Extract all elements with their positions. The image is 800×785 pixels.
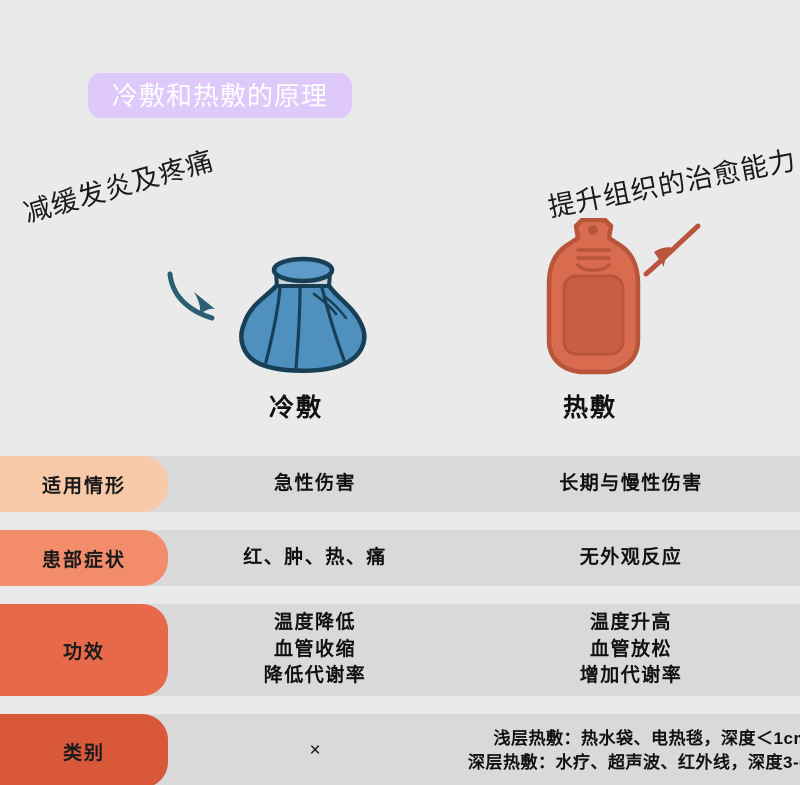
column-header-hot: 热敷 bbox=[492, 388, 688, 424]
cell-hot: 温度升高 血管放松 增加代谢率 bbox=[462, 604, 800, 696]
cell-hot: 长期与慢性伤害 bbox=[462, 456, 800, 512]
hot-water-bottle-icon bbox=[526, 218, 661, 378]
ice-bag-icon bbox=[216, 240, 386, 380]
row-label-text: 患部症状 bbox=[42, 545, 126, 572]
row-label-pill: 患部症状 bbox=[0, 530, 168, 586]
row-label-text: 类别 bbox=[63, 738, 105, 765]
row-label-pill: 适用情形 bbox=[0, 456, 168, 512]
table-row: 类别 × 浅层热敷：热水袋、电热毯，深度＜1cm 深层热敷：水疗、超声波、红外线… bbox=[0, 714, 800, 785]
table-row: 患部症状 红、肿、热、痛 无外观反应 bbox=[0, 530, 800, 586]
page-title: 冷敷和热敷的原理 bbox=[112, 83, 328, 109]
cell-cold: × bbox=[168, 714, 462, 785]
cell-hot: 浅层热敷：热水袋、电热毯，深度＜1cm 深层热敷：水疗、超声波、红外线，深度3-… bbox=[462, 714, 800, 785]
row-gap bbox=[0, 512, 800, 530]
annotation-hot-benefit: 提升组织的治愈能力 bbox=[544, 138, 799, 224]
cell-line: 浅层热敷：热水袋、电热毯，深度＜1cm bbox=[494, 727, 800, 751]
cell-line: 急性伤害 bbox=[274, 471, 356, 498]
cell-line: 长期与慢性伤害 bbox=[559, 471, 703, 498]
row-gap bbox=[0, 586, 800, 604]
column-header-cold: 冷敷 bbox=[198, 388, 394, 424]
cell-line: 降低代谢率 bbox=[264, 663, 367, 690]
cell-cold: 温度降低 血管收缩 降低代谢率 bbox=[168, 604, 462, 696]
row-gap bbox=[0, 696, 800, 714]
cell-line: × bbox=[309, 740, 320, 762]
annotation-cold-benefit: 减缓发炎及疼痛 bbox=[19, 139, 218, 231]
row-label-pill: 类别 bbox=[0, 714, 168, 785]
table-row: 适用情形 急性伤害 长期与慢性伤害 bbox=[0, 456, 800, 512]
cell-line: 无外观反应 bbox=[580, 545, 683, 572]
cell-line: 血管收缩 bbox=[274, 637, 356, 664]
cell-line: 血管放松 bbox=[590, 637, 672, 664]
comparison-table: 适用情形 急性伤害 长期与慢性伤害 患部症状 红、肿、热、痛 无外观反应 bbox=[0, 456, 800, 785]
cell-cold: 急性伤害 bbox=[168, 456, 462, 512]
cell-line: 深层热敷：水疗、超声波、红外线，深度3-6cm bbox=[468, 751, 800, 775]
cell-line: 温度升高 bbox=[590, 610, 672, 637]
row-label-text: 功效 bbox=[63, 637, 105, 664]
page-title-badge: 冷敷和热敷的原理 bbox=[88, 73, 352, 118]
cell-line: 增加代谢率 bbox=[580, 663, 683, 690]
infographic-root: 冷敷和热敷的原理 减缓发炎及疼痛 提升组织的治愈能力 冷敷 热敷 bbox=[0, 0, 800, 785]
cell-hot: 无外观反应 bbox=[462, 530, 800, 586]
row-label-text: 适用情形 bbox=[42, 471, 126, 498]
cell-line: 红、肿、热、痛 bbox=[243, 545, 387, 572]
table-row: 功效 温度降低 血管收缩 降低代谢率 温度升高 血管放松 增加代谢率 bbox=[0, 604, 800, 696]
cell-line: 温度降低 bbox=[274, 610, 356, 637]
cell-cold: 红、肿、热、痛 bbox=[168, 530, 462, 586]
row-label-pill: 功效 bbox=[0, 604, 168, 696]
